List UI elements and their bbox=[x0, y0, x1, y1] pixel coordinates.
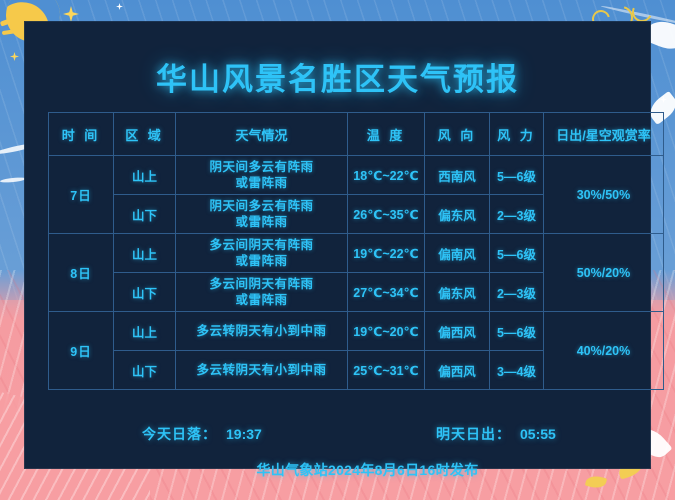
cell-condition: 多云转阴天有小到中雨 bbox=[176, 351, 348, 390]
cell-condition: 多云间阴天有阵雨 或雷阵雨 bbox=[176, 234, 348, 273]
sunrise-label: 明天日出： bbox=[436, 426, 511, 442]
cell-stargazing-rate: 50%/20% bbox=[544, 234, 664, 312]
cell-temperature: 19℃~22℃ bbox=[348, 234, 425, 273]
cell-temperature: 19℃~20℃ bbox=[348, 312, 425, 351]
sunset-label: 今天日落： bbox=[142, 426, 217, 442]
cell-day: 8日 bbox=[49, 234, 114, 312]
condition-line-2: 或雷阵雨 bbox=[235, 215, 287, 229]
cell-area: 山下 bbox=[114, 273, 176, 312]
issuer-note: 华山气象站2024年8月6日16时发布 bbox=[25, 460, 650, 480]
column-header-condition: 天气情况 bbox=[176, 113, 348, 156]
sunrise-value: 05:55 bbox=[520, 426, 556, 442]
cell-wind-direction: 偏西风 bbox=[425, 351, 490, 390]
column-header-wind-force: 风 力 bbox=[490, 113, 544, 156]
cell-stargazing-rate: 30%/50% bbox=[544, 156, 664, 234]
condition-line-2: 或雷阵雨 bbox=[235, 293, 287, 307]
cell-condition: 阴天间多云有阵雨 或雷阵雨 bbox=[176, 156, 348, 195]
condition-line-1: 阴天间多云有阵雨 bbox=[209, 199, 313, 213]
sunset-info: 今天日落：19:37 bbox=[142, 424, 262, 444]
cell-temperature: 26℃~35℃ bbox=[348, 195, 425, 234]
cell-condition: 阴天间多云有阵雨 或雷阵雨 bbox=[176, 195, 348, 234]
cell-temperature: 27℃~34℃ bbox=[348, 273, 425, 312]
cell-day: 9日 bbox=[49, 312, 114, 390]
cell-condition: 多云间阴天有阵雨 或雷阵雨 bbox=[176, 273, 348, 312]
cell-wind-direction: 西南风 bbox=[425, 156, 490, 195]
cell-wind-direction: 偏南风 bbox=[425, 234, 490, 273]
cell-wind-force: 5—6级 bbox=[490, 312, 544, 351]
cell-day: 7日 bbox=[49, 156, 114, 234]
forecast-table: 时 间 区 域 天气情况 温 度 风 向 风 力 日出/星空观赏率 7日 山上 … bbox=[48, 112, 664, 390]
weather-forecast-poster: 华山风景名胜区天气预报 时 间 区 域 天气情况 温 度 风 向 风 力 日出/… bbox=[0, 0, 675, 500]
table-header-row: 时 间 区 域 天气情况 温 度 风 向 风 力 日出/星空观赏率 bbox=[49, 113, 664, 156]
cell-wind-force: 3—4级 bbox=[490, 351, 544, 390]
cell-stargazing-rate: 40%/20% bbox=[544, 312, 664, 390]
cell-wind-direction: 偏西风 bbox=[425, 312, 490, 351]
condition-line-1: 多云间阴天有阵雨 bbox=[209, 277, 313, 291]
condition-line-1: 多云间阴天有阵雨 bbox=[209, 238, 313, 252]
column-header-wind-direction: 风 向 bbox=[425, 113, 490, 156]
cell-area: 山下 bbox=[114, 351, 176, 390]
condition-line-2: 或雷阵雨 bbox=[235, 254, 287, 268]
column-header-sunrise-stargazing: 日出/星空观赏率 bbox=[544, 113, 664, 156]
cell-temperature: 25℃~31℃ bbox=[348, 351, 425, 390]
cell-area: 山上 bbox=[114, 312, 176, 351]
cell-temperature: 18℃~22℃ bbox=[348, 156, 425, 195]
sun-times-row: 今天日落：19:37 明天日出：05:55 bbox=[48, 424, 628, 450]
forecast-panel: 华山风景名胜区天气预报 时 间 区 域 天气情况 温 度 风 向 风 力 日出/… bbox=[25, 22, 650, 468]
cell-area: 山上 bbox=[114, 156, 176, 195]
condition-line-1: 阴天间多云有阵雨 bbox=[209, 160, 313, 174]
column-header-area: 区 域 bbox=[114, 113, 176, 156]
column-header-temperature: 温 度 bbox=[348, 113, 425, 156]
table-row: 7日 山上 阴天间多云有阵雨 或雷阵雨 18℃~22℃ 西南风 5—6级 30%… bbox=[49, 156, 664, 195]
table-row: 9日 山上 多云转阴天有小到中雨 19℃~20℃ 偏西风 5—6级 40%/20… bbox=[49, 312, 664, 351]
cell-wind-force: 5—6级 bbox=[490, 234, 544, 273]
cell-area: 山上 bbox=[114, 234, 176, 273]
page-title: 华山风景名胜区天气预报 bbox=[25, 54, 650, 99]
cell-wind-direction: 偏东风 bbox=[425, 195, 490, 234]
sunset-value: 19:37 bbox=[226, 426, 262, 442]
column-header-time: 时 间 bbox=[49, 113, 114, 156]
cell-wind-direction: 偏东风 bbox=[425, 273, 490, 312]
table-row: 8日 山上 多云间阴天有阵雨 或雷阵雨 19℃~22℃ 偏南风 5—6级 50%… bbox=[49, 234, 664, 273]
sunrise-info: 明天日出：05:55 bbox=[436, 424, 556, 444]
cell-wind-force: 2—3级 bbox=[490, 273, 544, 312]
cell-condition: 多云转阴天有小到中雨 bbox=[176, 312, 348, 351]
condition-line-2: 或雷阵雨 bbox=[235, 176, 287, 190]
cell-wind-force: 2—3级 bbox=[490, 195, 544, 234]
cell-wind-force: 5—6级 bbox=[490, 156, 544, 195]
cell-area: 山下 bbox=[114, 195, 176, 234]
